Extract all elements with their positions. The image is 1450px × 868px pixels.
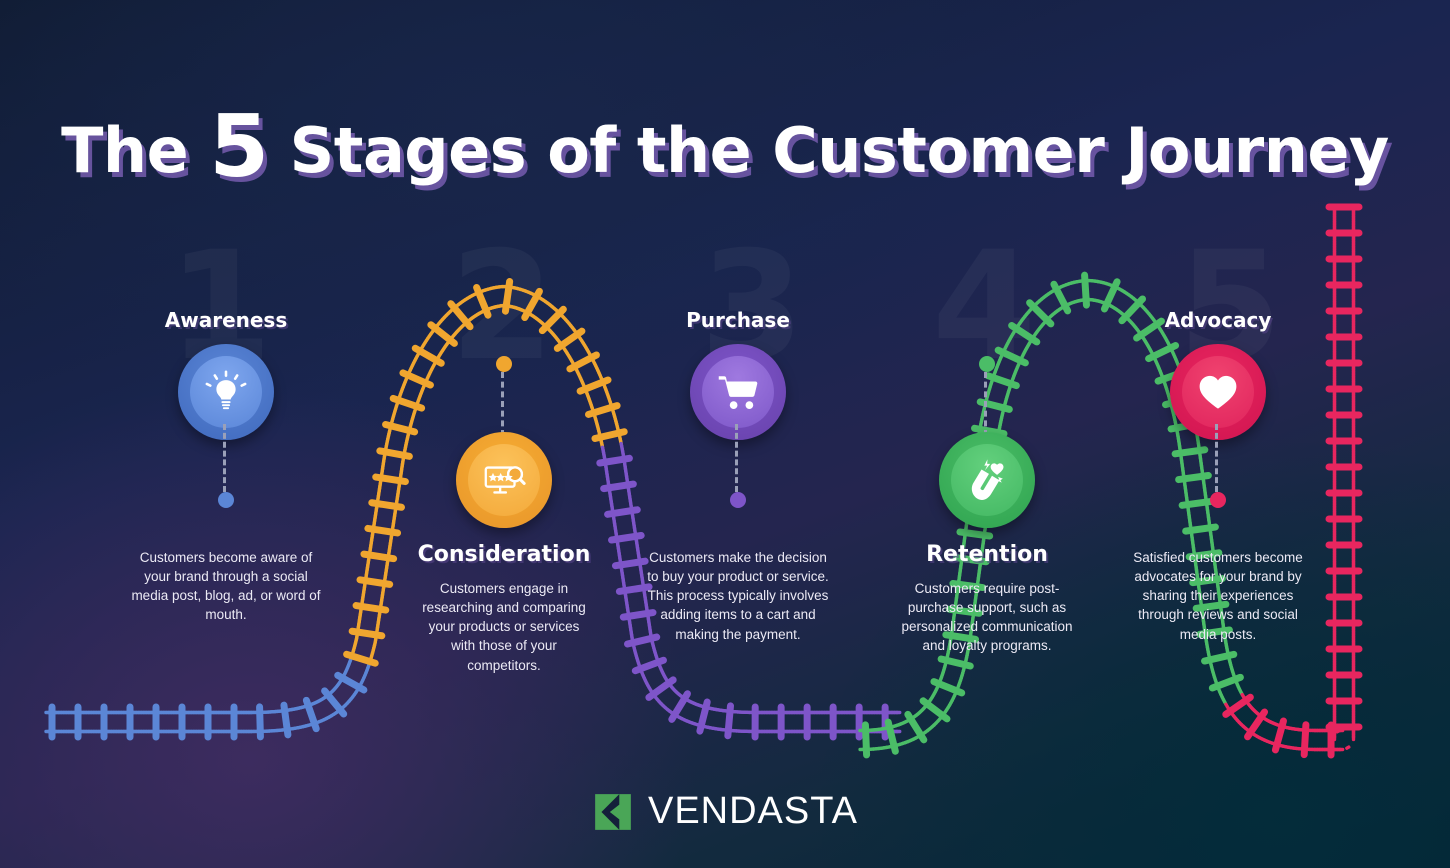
stage-consideration[interactable]: Consideration Customers engage in resear… xyxy=(404,356,604,675)
stage-awareness-connector xyxy=(221,424,231,508)
title-suffix: Stages of the Customer Journey xyxy=(269,114,1389,187)
connector-dashed-line xyxy=(501,372,507,436)
stage-consideration-description: Customers engage in researching and comp… xyxy=(419,579,589,675)
monitor-stars-search-icon[interactable] xyxy=(456,432,552,528)
stage-advocacy-connector xyxy=(1213,424,1223,508)
title-number: 5 xyxy=(209,97,268,197)
vendasta-mark-icon xyxy=(592,791,634,833)
badge-core xyxy=(1182,356,1254,428)
badge-core xyxy=(702,356,774,428)
connector-knob xyxy=(730,492,746,508)
connector-dashed-line xyxy=(223,424,229,492)
stage-retention-title: Retention xyxy=(887,542,1087,567)
stage-consideration-connector xyxy=(499,356,509,436)
connector-dashed-line xyxy=(984,372,990,436)
stage-advocacy-title: Advocacy xyxy=(1118,308,1318,332)
badge-core xyxy=(190,356,262,428)
connector-knob xyxy=(218,492,234,508)
badge-core xyxy=(951,444,1023,516)
stage-purchase-connector xyxy=(733,424,743,508)
stage-awareness-description: Customers become aware of your brand thr… xyxy=(131,548,321,625)
stage-advocacy[interactable]: Advocacy Satisfied customers become advo… xyxy=(1118,308,1318,644)
connector-knob xyxy=(979,356,995,372)
stage-advocacy-description: Satisfied customers become advocates for… xyxy=(1123,548,1313,644)
page-title: The 5 Stages of the Customer Journey xyxy=(0,114,1450,187)
stage-purchase-title: Purchase xyxy=(638,308,838,332)
title-prefix: The xyxy=(61,114,209,187)
stage-consideration-title: Consideration xyxy=(404,542,604,567)
stage-awareness-title: Awareness xyxy=(126,308,326,332)
connector-dashed-line xyxy=(1215,424,1221,492)
stage-purchase[interactable]: Purchase Customers make the decision to … xyxy=(638,308,838,644)
magnet-heart-icon[interactable] xyxy=(939,432,1035,528)
vendasta-logo[interactable]: VENDASTA xyxy=(0,790,1450,833)
stage-retention-description: Customers require post-purchase support,… xyxy=(895,579,1079,656)
stage-purchase-description: Customers make the decision to buy your … xyxy=(644,548,832,644)
connector-knob xyxy=(1210,492,1226,508)
connector-dashed-line xyxy=(735,424,741,492)
vendasta-wordmark: VENDASTA xyxy=(648,790,858,833)
connector-knob xyxy=(496,356,512,372)
badge-core xyxy=(468,444,540,516)
stage-retention-connector xyxy=(982,356,992,436)
stage-awareness[interactable]: Awareness xyxy=(126,308,326,625)
stage-retention[interactable]: Retention Customers require post-purchas… xyxy=(887,356,1087,656)
infographic-canvas: 1 2 3 4 5 The 5 Stages of the Cus xyxy=(0,0,1450,868)
